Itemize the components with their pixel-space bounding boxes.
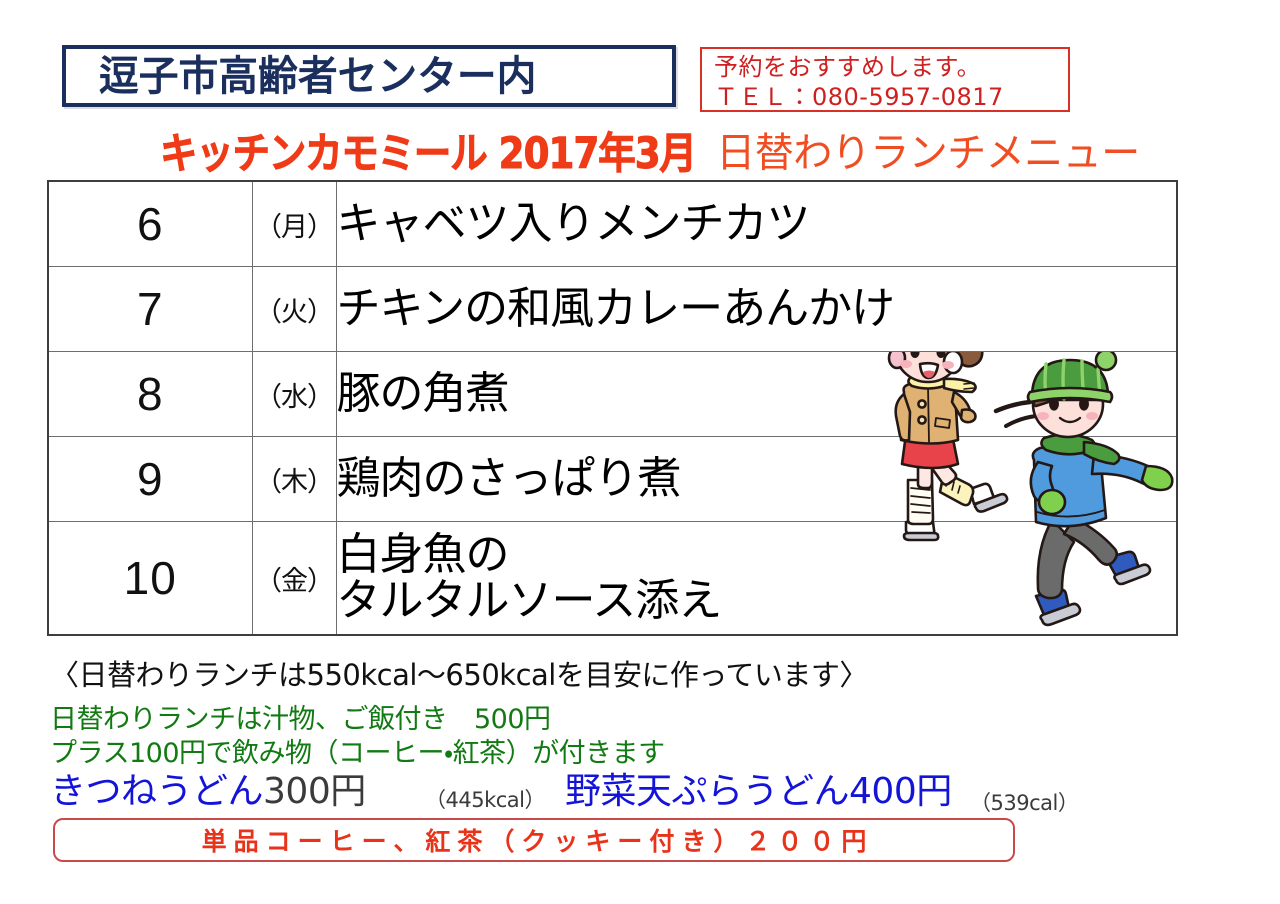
daily-lunch-menu-table: 6 （月） キャベツ入りメンチカツ 7 （火） チキンの和風カレーあんかけ 8 … <box>47 180 1178 636</box>
weekday: （木） <box>252 437 336 522</box>
table-row: 10 （金） 白身魚の タルタルソース添え <box>48 522 1177 636</box>
dish-name: 白身魚の タルタルソース添え <box>336 522 1177 636</box>
weekday: （水） <box>252 352 336 437</box>
coffee-offer-text: 単品コーヒー、紅茶（クッキー付き）２００円 <box>195 822 874 858</box>
venue-title-box: 逗子市高齢者センター内 <box>62 45 676 107</box>
vegetable-tempura-udon-calories: （539cal） <box>970 787 1078 817</box>
reservation-note: 予約をおすすめします。 <box>714 52 1068 82</box>
kitsune-udon-item: きつねうどん300円 <box>50 762 366 814</box>
vegetable-tempura-udon-item: 野菜天ぷらうどん400円 <box>565 762 952 814</box>
weekday: （火） <box>252 267 336 352</box>
udon-price-row: きつねうどん300円 （445kcal） 野菜天ぷらうどん400円 （539ca… <box>50 762 1080 810</box>
weekday: （月） <box>252 181 336 267</box>
header: 逗子市高齢者センター内 予約をおすすめします。 ＴＥＬ：080-5957-081… <box>0 0 1280 128</box>
dish-name: キャベツ入りメンチカツ <box>336 181 1177 267</box>
table-row: 8 （水） 豚の角煮 <box>48 352 1177 437</box>
table-row: 7 （火） チキンの和風カレーあんかけ <box>48 267 1177 352</box>
menu-label: 日替わりランチメニュー <box>716 121 1140 179</box>
table-row: 6 （月） キャベツ入りメンチカツ <box>48 181 1177 267</box>
vegetable-tempura-udon-name: 野菜天ぷらうどん <box>565 771 849 812</box>
dish-name: 鶏肉のさっぱり煮 <box>336 437 1177 522</box>
coffee-offer-box: 単品コーヒー、紅茶（クッキー付き）２００円 <box>53 818 1015 862</box>
day-number: 7 <box>48 267 252 352</box>
telephone-number[interactable]: ＴＥＬ：080-5957-0817 <box>714 82 1068 112</box>
dish-name: チキンの和風カレーあんかけ <box>336 267 1177 352</box>
day-number: 6 <box>48 181 252 267</box>
day-number: 9 <box>48 437 252 522</box>
dish-name: 豚の角煮 <box>336 352 1177 437</box>
table-row: 9 （木） 鶏肉のさっぱり煮 <box>48 437 1177 522</box>
vegetable-tempura-udon-price: 400円 <box>849 771 952 812</box>
kitsune-udon-name: きつねうどん <box>50 771 263 812</box>
venue-title: 逗子市高齢者センター内 <box>66 56 536 97</box>
shop-name-and-month: キッチンカモミール 2017年3月 <box>160 119 696 180</box>
calorie-range-note: 〈日替わりランチは550kcal～650kcalを目安に作っています〉 <box>50 652 868 694</box>
kitsune-udon-price: 300円 <box>263 771 366 812</box>
reservation-contact-box: 予約をおすすめします。 ＴＥＬ：080-5957-0817 <box>700 47 1070 112</box>
weekday: （金） <box>252 522 336 636</box>
kitsune-udon-calories: （445kcal） <box>425 784 545 814</box>
day-number: 10 <box>48 522 252 636</box>
day-number: 8 <box>48 352 252 437</box>
page-title: キッチンカモミール 2017年3月日替わりランチメニュー <box>0 126 1280 174</box>
